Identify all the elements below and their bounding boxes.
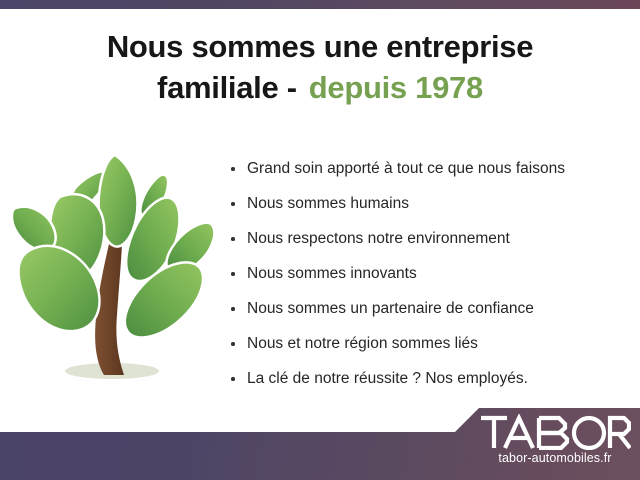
top-accent-band: [0, 0, 640, 9]
list-item: La clé de notre réussite ? Nos employés.: [228, 361, 628, 396]
headline-accent-since: depuis 1978: [309, 70, 483, 105]
slide-canvas: Nous sommes une entreprise familiale -de…: [0, 0, 640, 480]
brand-website: tabor-automobiles.fr: [479, 451, 631, 465]
bullet-dot-icon: [231, 342, 235, 346]
bullet-dot-icon: [231, 377, 235, 381]
bullet-dot-icon: [231, 202, 235, 206]
list-item: Nous et notre région sommes liés: [228, 326, 628, 361]
list-item-label: Grand soin apporté à tout ce que nous fa…: [247, 160, 565, 177]
headline-line-2-plain: familiale -: [157, 70, 297, 105]
benefits-list: Grand soin apporté à tout ce que nous fa…: [228, 151, 628, 396]
list-item-label: Nous sommes innovants: [247, 265, 417, 282]
tree-illustration: [12, 143, 217, 388]
headline-line-1: Nous sommes une entreprise: [0, 26, 640, 67]
list-item-label: Nous sommes un partenaire de confiance: [247, 300, 534, 317]
list-item-label: Nous respectons notre environnement: [247, 230, 510, 247]
headline-line-2: familiale -depuis 1978: [0, 67, 640, 108]
brand-logo: tabor-automobiles.fr: [479, 414, 637, 474]
bullet-dot-icon: [231, 167, 235, 171]
brand-wordmark: [479, 414, 631, 450]
bullet-dot-icon: [231, 307, 235, 311]
bullet-dot-icon: [231, 272, 235, 276]
bullet-dot-icon: [231, 237, 235, 241]
list-item: Nous sommes innovants: [228, 256, 628, 291]
list-item: Nous sommes un partenaire de confiance: [228, 291, 628, 326]
tree-leaf-5: [12, 207, 56, 251]
list-item-label: Nous et notre région sommes liés: [247, 335, 478, 352]
list-item: Nous respectons notre environnement: [228, 221, 628, 256]
list-item-label: Nous sommes humains: [247, 195, 409, 212]
list-item: Nous sommes humains: [228, 186, 628, 221]
page-title: Nous sommes une entreprise familiale -de…: [0, 26, 640, 108]
list-item: Grand soin apporté à tout ce que nous fa…: [228, 151, 628, 186]
list-item-label: La clé de notre réussite ? Nos employés.: [247, 370, 528, 387]
